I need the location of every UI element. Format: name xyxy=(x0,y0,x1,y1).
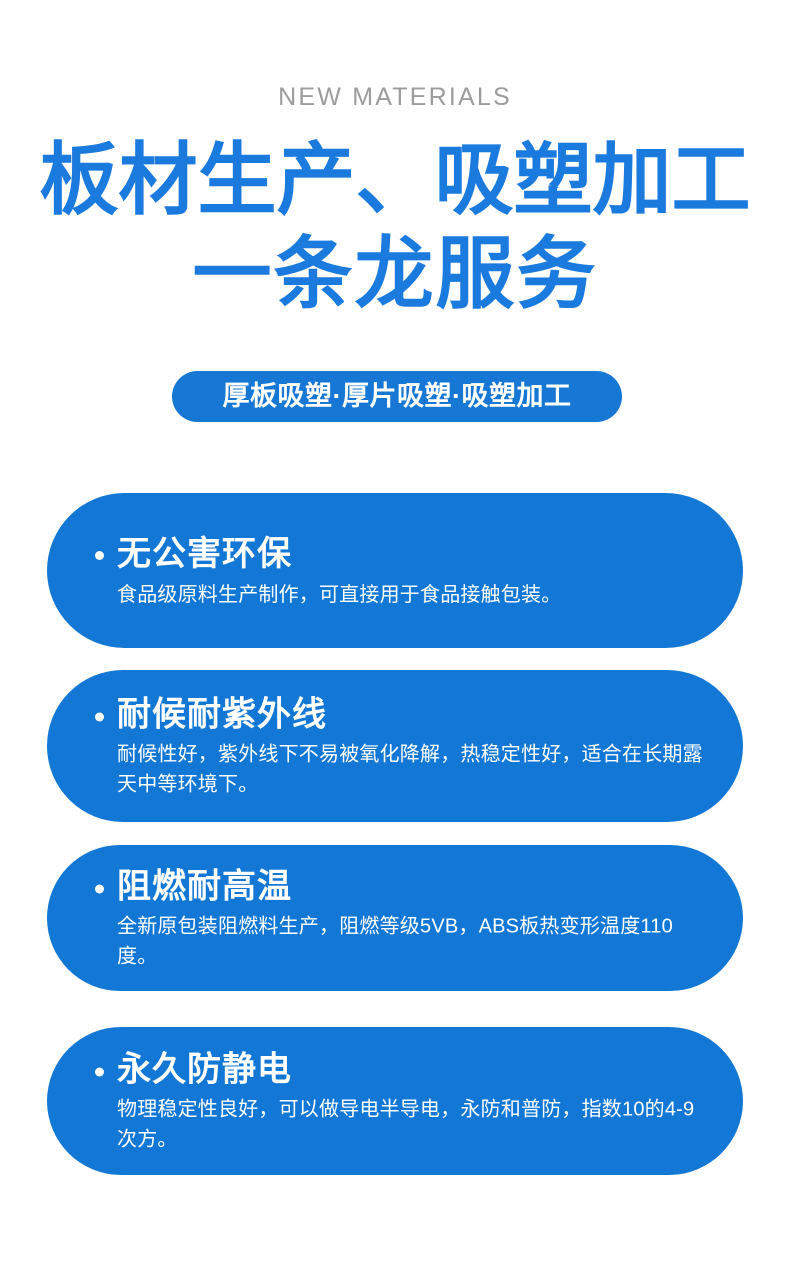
feature-card-1-title-row: 无公害环保 xyxy=(95,532,703,576)
feature-card-2-title-row: 耐候耐紫外线 xyxy=(95,693,703,737)
bullet-dot-icon xyxy=(95,884,104,893)
feature-card-3-title: 阻燃耐高温 xyxy=(117,865,292,909)
bullet-dot-icon xyxy=(95,1067,104,1076)
feature-card-2-content: 耐候耐紫外线 耐候性好，紫外线下不易被氧化降解，热稳定性好，适合在长期露天中等环… xyxy=(95,693,703,800)
page-title-line-2: 一条龙服务 xyxy=(0,227,790,321)
feature-card-4-title: 永久防静电 xyxy=(117,1048,292,1092)
eyebrow-text: NEW MATERIALS xyxy=(0,82,790,112)
feature-card-4-content: 永久防静电 物理稳定性良好，可以做导电半导电，永防和普防，指数10的4-9次方。 xyxy=(95,1048,703,1155)
feature-card-3-title-row: 阻燃耐高温 xyxy=(95,865,703,909)
page-title: 板材生产、吸塑加工 一条龙服务 xyxy=(0,133,790,321)
feature-card-4-title-row: 永久防静电 xyxy=(95,1048,703,1092)
feature-card-1-title: 无公害环保 xyxy=(117,532,292,576)
feature-card-2-title: 耐候耐紫外线 xyxy=(117,693,327,737)
feature-card-2-description: 耐候性好，紫外线下不易被氧化降解，热稳定性好，适合在长期露天中等环境下。 xyxy=(117,740,703,800)
feature-card-2: 耐候耐紫外线 耐候性好，紫外线下不易被氧化降解，热稳定性好，适合在长期露天中等环… xyxy=(47,670,743,822)
subtitle-badge: 厚板吸塑·厚片吸塑·吸塑加工 xyxy=(172,371,622,422)
feature-card-4: 永久防静电 物理稳定性良好，可以做导电半导电，永防和普防，指数10的4-9次方。 xyxy=(47,1027,743,1175)
bullet-dot-icon xyxy=(95,712,104,721)
promo-page: NEW MATERIALS 板材生产、吸塑加工 一条龙服务 厚板吸塑·厚片吸塑·… xyxy=(0,0,790,1265)
page-title-line-1: 板材生产、吸塑加工 xyxy=(0,133,790,227)
feature-card-1-content: 无公害环保 食品级原料生产制作，可直接用于食品接触包装。 xyxy=(95,532,703,610)
feature-card-3-description: 全新原包装阻燃料生产，阻燃等级5VB，ABS板热变形温度110度。 xyxy=(117,912,703,972)
feature-card-1-description: 食品级原料生产制作，可直接用于食品接触包装。 xyxy=(117,580,703,610)
feature-card-3-content: 阻燃耐高温 全新原包装阻燃料生产，阻燃等级5VB，ABS板热变形温度110度。 xyxy=(95,865,703,972)
feature-card-4-description: 物理稳定性良好，可以做导电半导电，永防和普防，指数10的4-9次方。 xyxy=(117,1095,703,1155)
feature-card-1: 无公害环保 食品级原料生产制作，可直接用于食品接触包装。 xyxy=(47,493,743,648)
bullet-dot-icon xyxy=(95,551,104,560)
feature-card-3: 阻燃耐高温 全新原包装阻燃料生产，阻燃等级5VB，ABS板热变形温度110度。 xyxy=(47,845,743,991)
